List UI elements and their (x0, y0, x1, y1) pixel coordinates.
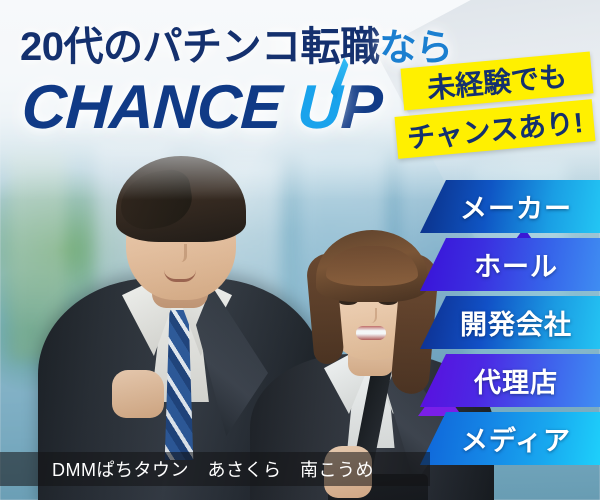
headline-suffix: なら (380, 27, 453, 68)
banner-advertisement: 20代のパチンコ転職なら CHANCE UP 未経験でも チャンスあり! メーカ… (0, 0, 600, 500)
category-label-maker: メーカー (420, 187, 600, 226)
category-bar-hall[interactable]: ホール (420, 238, 600, 291)
male-hand (112, 370, 164, 418)
female-nose (366, 308, 377, 323)
category-bar-agency[interactable]: 代理店 (420, 354, 600, 407)
category-bar-maker[interactable]: メーカー (420, 180, 600, 233)
logo-u-letter: U (296, 73, 343, 142)
logo-p-letter: P (339, 73, 383, 142)
category-label-hall: ホール (420, 245, 600, 284)
caption-text: DMMぱちタウン あさくら 南こうめ (52, 456, 374, 482)
caption-strip: DMMぱちタウン あさくら 南こうめ (0, 452, 430, 486)
logo-chance-text: CHANCE (20, 73, 299, 142)
category-label-agency: 代理店 (420, 361, 600, 400)
category-label-media: メディア (420, 419, 600, 458)
chance-up-logo: CHANCE UP (20, 72, 383, 143)
headline-text: 20代のパチンコ転職なら (20, 14, 453, 72)
category-bar-development-company[interactable]: 開発会社 (420, 296, 600, 349)
category-label-development-company: 開発会社 (420, 303, 600, 342)
male-nose (174, 244, 187, 262)
headline-main: 20代のパチンコ転職 (20, 25, 380, 69)
category-bar-media[interactable]: メディア (420, 412, 600, 465)
female-mouth (356, 326, 386, 340)
